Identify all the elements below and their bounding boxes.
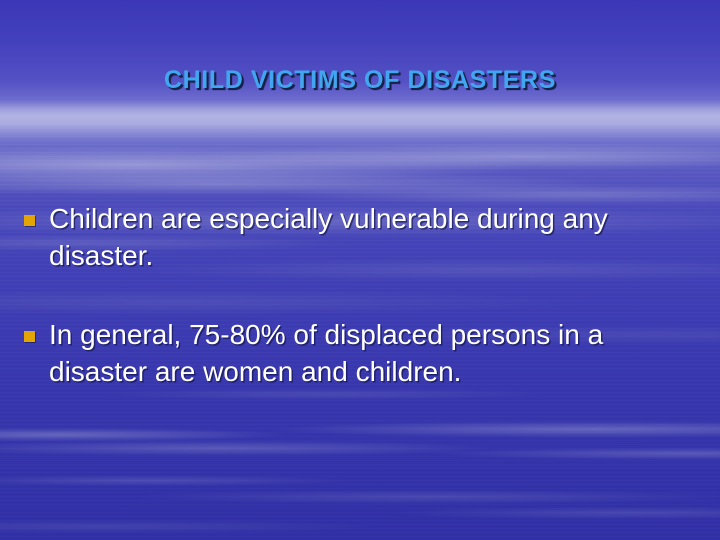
bullet-item-1: Children are especially vulnerable durin… [24,200,708,274]
square-bullet-icon [24,331,35,342]
square-bullet-icon [24,215,35,226]
bullet-item-2-text: In general, 75-80% of displaced persons … [49,316,693,390]
slide-title: CHILD VICTIMS OF DISASTERS [0,66,720,95]
presentation-slide: CHILD VICTIMS OF DISASTERS Children are … [0,0,720,540]
bullet-item-1-text: Children are especially vulnerable durin… [49,200,645,274]
slide-body: Children are especially vulnerable durin… [24,200,708,390]
bullet-item-2: In general, 75-80% of displaced persons … [24,316,708,390]
